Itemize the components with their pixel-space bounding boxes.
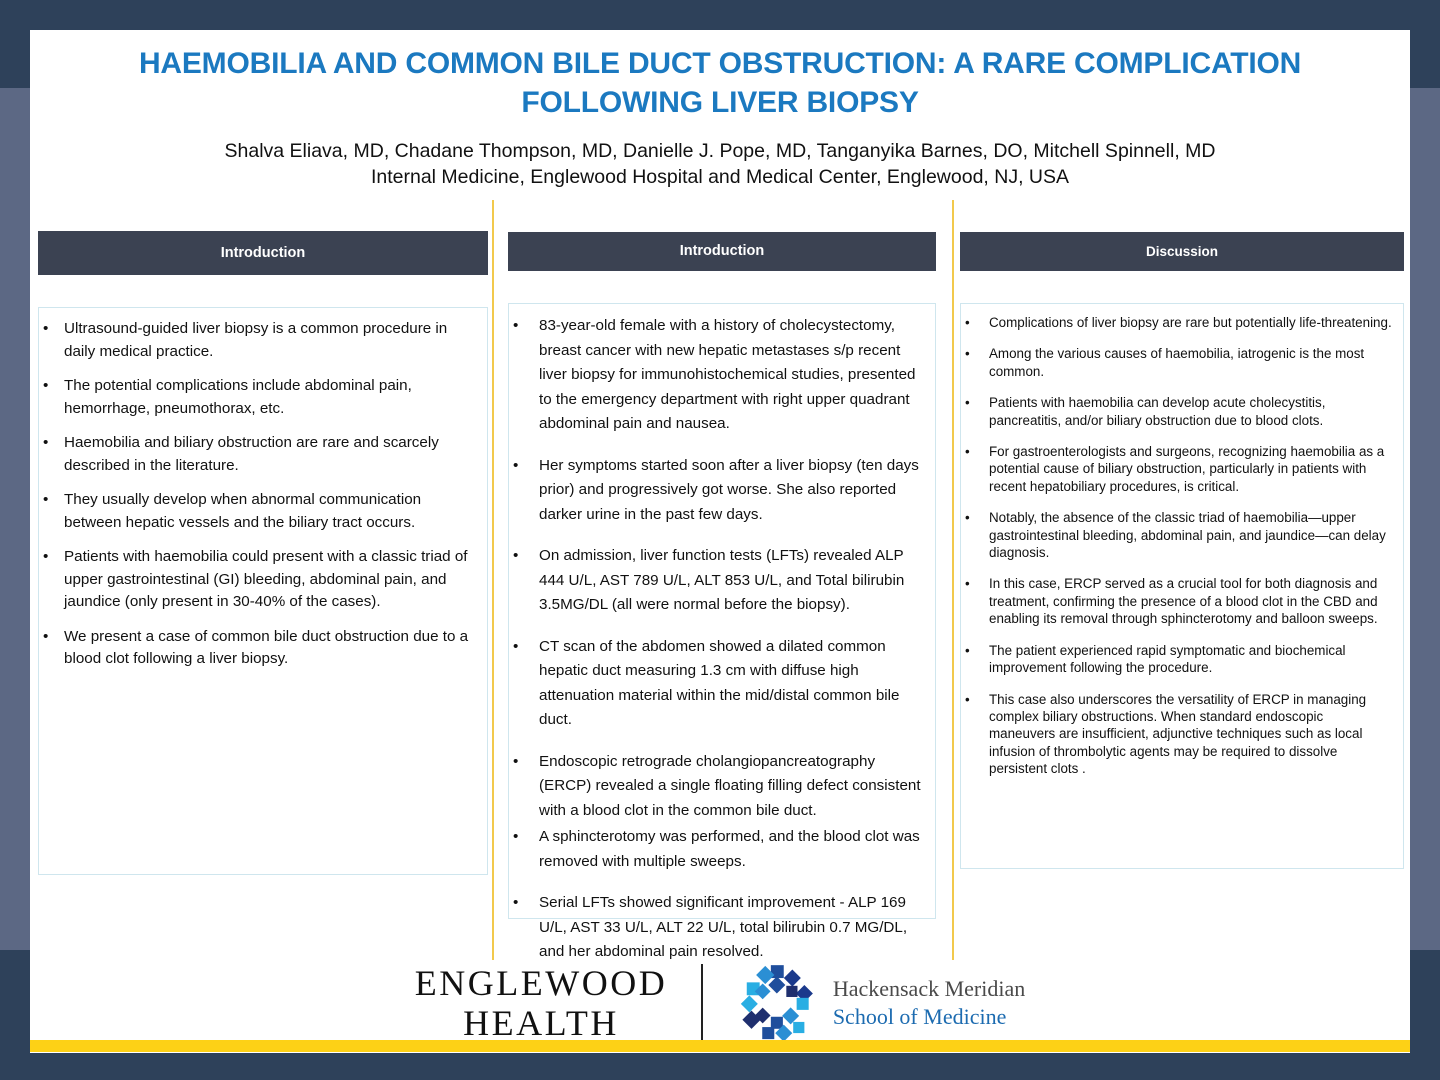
bullet-dot-icon: • [965, 345, 970, 362]
section-header-discussion: Discussion [960, 232, 1404, 271]
list-item: •83-year-old female with a history of ch… [513, 314, 925, 437]
bullet-dot-icon: • [965, 575, 970, 592]
bullet-dot-icon: • [513, 825, 518, 850]
text-box-introduction-middle: •83-year-old female with a history of ch… [508, 303, 936, 919]
hmh-line2: School of Medicine [833, 1003, 1025, 1031]
bullet-dot-icon: • [43, 432, 48, 455]
list-item: •Ultrasound-guided liver biopsy is a com… [43, 318, 477, 363]
authors-block: Shalva Eliava, MD, Chadane Thompson, MD,… [30, 138, 1410, 190]
affiliation-line: Internal Medicine, Englewood Hospital an… [30, 164, 1410, 190]
list-item: •Patients with haemobilia could present … [43, 546, 477, 614]
bullet-list-left: •Ultrasound-guided liver biopsy is a com… [43, 318, 477, 671]
englewood-logo-line1: ENGLEWOOD [415, 963, 667, 1003]
bullet-dot-icon: • [965, 691, 970, 708]
list-item: •Complications of liver biopsy are rare … [965, 314, 1393, 331]
column-introduction-left: Introduction •Ultrasound-guided liver bi… [38, 200, 488, 960]
bullet-dot-icon: • [513, 750, 518, 775]
column-discussion: Discussion •Complications of liver biops… [960, 200, 1404, 960]
list-item: •CT scan of the abdomen showed a dilated… [513, 635, 925, 733]
logo-row: ENGLEWOOD HEALTH [30, 960, 1410, 1046]
page-title: HAEMOBILIA AND COMMON BILE DUCT OBSTRUCT… [30, 30, 1410, 122]
column-divider-left [492, 200, 494, 960]
bullet-dot-icon: • [513, 891, 518, 916]
list-item: •For gastroenterologists and surgeons, r… [965, 443, 1393, 495]
bullet-dot-icon: • [965, 394, 970, 411]
list-item: •Haemobilia and biliary obstruction are … [43, 432, 477, 477]
list-item: •On admission, liver function tests (LFT… [513, 544, 925, 618]
list-item: •We present a case of common bile duct o… [43, 626, 477, 671]
text-box-discussion: •Complications of liver biopsy are rare … [960, 303, 1404, 869]
bullet-dot-icon: • [43, 546, 48, 569]
list-item: •Notably, the absence of the classic tri… [965, 509, 1393, 561]
list-item: •In this case, ERCP served as a crucial … [965, 575, 1393, 627]
bullet-dot-icon: • [513, 454, 518, 479]
section-header-introduction-left: Introduction [38, 231, 488, 275]
column-introduction-middle: Introduction •83-year-old female with a … [508, 200, 936, 960]
list-item: •Patients with haemobilia can develop ac… [965, 394, 1393, 429]
bullet-dot-icon: • [43, 626, 48, 649]
section-header-introduction-middle: Introduction [508, 232, 936, 271]
bullet-dot-icon: • [43, 318, 48, 341]
frame-side-left [0, 88, 30, 988]
list-item: •Among the various causes of haemobilia,… [965, 345, 1393, 380]
poster-canvas: HAEMOBILIA AND COMMON BILE DUCT OBSTRUCT… [30, 30, 1410, 1053]
poster-columns: Introduction •Ultrasound-guided liver bi… [30, 200, 1410, 960]
list-item: •Her symptoms started soon after a liver… [513, 454, 925, 528]
list-item: •They usually develop when abnormal comm… [43, 489, 477, 534]
bullet-dot-icon: • [965, 509, 970, 526]
bullet-dot-icon: • [513, 635, 518, 660]
hmh-line1: Hackensack Meridian [833, 975, 1025, 1003]
bullet-dot-icon: • [965, 642, 970, 659]
footer-accent-bar [30, 1040, 1410, 1052]
englewood-logo-line2: HEALTH [415, 1003, 667, 1043]
list-item: •Endoscopic retrograde cholangiopancreat… [513, 750, 925, 824]
bullet-dot-icon: • [43, 375, 48, 398]
bullet-dot-icon: • [965, 443, 970, 460]
text-box-introduction-left: •Ultrasound-guided liver biopsy is a com… [38, 307, 488, 875]
bullet-list-middle: •83-year-old female with a history of ch… [513, 314, 925, 965]
list-item: •Serial LFTs showed significant improvem… [513, 891, 925, 965]
bullet-dot-icon: • [43, 489, 48, 512]
list-item: •This case also underscores the versatil… [965, 691, 1393, 778]
hackensack-diamond-ring-icon [733, 960, 819, 1046]
list-item: •The potential complications include abd… [43, 375, 477, 420]
author-list: Shalva Eliava, MD, Chadane Thompson, MD,… [30, 138, 1410, 164]
column-divider-right [952, 200, 954, 960]
hackensack-wordmark: Hackensack Meridian School of Medicine [833, 975, 1025, 1031]
bullet-dot-icon: • [513, 314, 518, 339]
logo-divider [701, 964, 703, 1042]
bullet-dot-icon: • [965, 314, 970, 331]
list-item: •A sphincterotomy was performed, and the… [513, 825, 925, 874]
list-item: •The patient experienced rapid symptomat… [965, 642, 1393, 677]
hackensack-meridian-logo: Hackensack Meridian School of Medicine [733, 960, 1025, 1046]
bullet-dot-icon: • [513, 544, 518, 569]
frame-side-right [1410, 88, 1440, 988]
englewood-health-logo: ENGLEWOOD HEALTH [415, 963, 667, 1043]
bullet-list-right: •Complications of liver biopsy are rare … [965, 314, 1393, 778]
